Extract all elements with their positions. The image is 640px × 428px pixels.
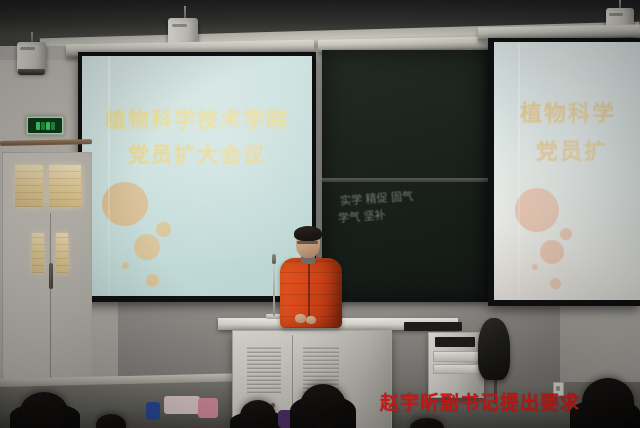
door-panel-glass-right xyxy=(56,233,68,273)
microphone-stem xyxy=(273,262,275,316)
slide-left-bubble-medium xyxy=(134,234,160,260)
blackboard: 实学 精促 固气 学气 坚补 xyxy=(322,50,488,302)
speaker-left-logo xyxy=(20,47,35,50)
slide-right-title-line2: 党员扩 xyxy=(536,134,640,166)
office-chair[interactable] xyxy=(478,318,510,380)
door-transom-brick-left xyxy=(15,165,43,207)
slide-right-glare xyxy=(494,42,640,300)
audience-head-1 xyxy=(20,392,68,428)
blackboard-chalk-line1: 实学 精促 固气 xyxy=(340,187,414,208)
slide-right-bubble-tiny xyxy=(532,264,538,270)
rack-display xyxy=(435,337,475,347)
podium-vent-left xyxy=(247,347,281,393)
slide-right: 植物科学 党员扩 xyxy=(494,42,640,300)
slide-right-seam xyxy=(518,42,520,300)
slide-left-seam xyxy=(108,56,110,296)
exit-sign xyxy=(26,116,64,135)
lecture-hall-photograph: 植物科学技术学院 党员扩大会议 实学 精促 固气 学气 坚补 植物科学 党员扩 xyxy=(0,0,640,428)
presenter-glasses xyxy=(297,241,318,244)
door-transom-glass-left xyxy=(15,165,43,207)
caption-overlay: 赵宇昕副书记提出要求 xyxy=(380,388,580,415)
exit-sign-glyph-2 xyxy=(41,122,45,130)
slide-right-title-line1: 植物科学 xyxy=(520,96,640,128)
door-transom-glass-right xyxy=(49,165,81,207)
audience-head-2 xyxy=(240,400,276,428)
door-frame xyxy=(2,152,92,384)
projection-screen-left-frame: 植物科学技术学院 党员扩大会议 xyxy=(78,52,316,302)
exit-sign-panel xyxy=(28,118,62,133)
slide-right-bubble-lower xyxy=(550,278,561,289)
audience-head-3 xyxy=(300,384,346,428)
audience-item-paper xyxy=(164,396,200,414)
slide-left-bubble-tiny xyxy=(122,262,129,269)
microphone-head xyxy=(272,254,276,264)
door-center-seam xyxy=(50,213,51,383)
slide-right-bubble-small-right xyxy=(560,228,572,240)
presenter-hand-right xyxy=(306,316,316,324)
exit-sign-glyph-3 xyxy=(46,122,50,130)
exit-sign-glyph-1 xyxy=(36,122,40,130)
projector-unit xyxy=(404,322,462,331)
slide-left-title-line2: 党员扩大会议 xyxy=(82,139,312,169)
chalk-rail xyxy=(320,178,488,182)
speaker-far-right-logo xyxy=(609,13,623,16)
door-transom-brick-right xyxy=(49,165,81,207)
slide-left-bubble-lower xyxy=(146,274,159,287)
audience-item-bottle xyxy=(146,402,160,420)
speaker-right-logo xyxy=(172,24,187,27)
rack-slot-upper xyxy=(433,351,479,362)
projection-screen-right-frame: 植物科学 党员扩 xyxy=(488,38,640,306)
audience-head-4 xyxy=(582,378,634,426)
slide-left: 植物科学技术学院 党员扩大会议 xyxy=(82,56,312,296)
exit-sign-glyph-4 xyxy=(51,122,55,130)
audience-item-pink xyxy=(198,398,218,418)
ceiling-speaker-left xyxy=(17,42,46,72)
presenter-jacket-zipper xyxy=(308,264,310,324)
door-panel-glass-left xyxy=(32,233,44,273)
presenter-hair xyxy=(294,226,322,241)
presenter-hand-left xyxy=(295,314,306,323)
rack-slot-lower xyxy=(433,364,479,374)
door-panel-brick-right xyxy=(56,233,68,273)
door-panel-brick-left xyxy=(32,233,44,273)
slide-left-bubble-small-right xyxy=(156,222,171,237)
blackboard-chalk-line2: 学气 坚补 xyxy=(337,206,386,225)
slide-right-bubble-medium xyxy=(540,240,564,264)
slide-left-title-line1: 植物科学技术学院 xyxy=(82,104,312,134)
slide-right-bubble-large xyxy=(515,188,559,232)
slide-left-glare xyxy=(82,56,312,296)
